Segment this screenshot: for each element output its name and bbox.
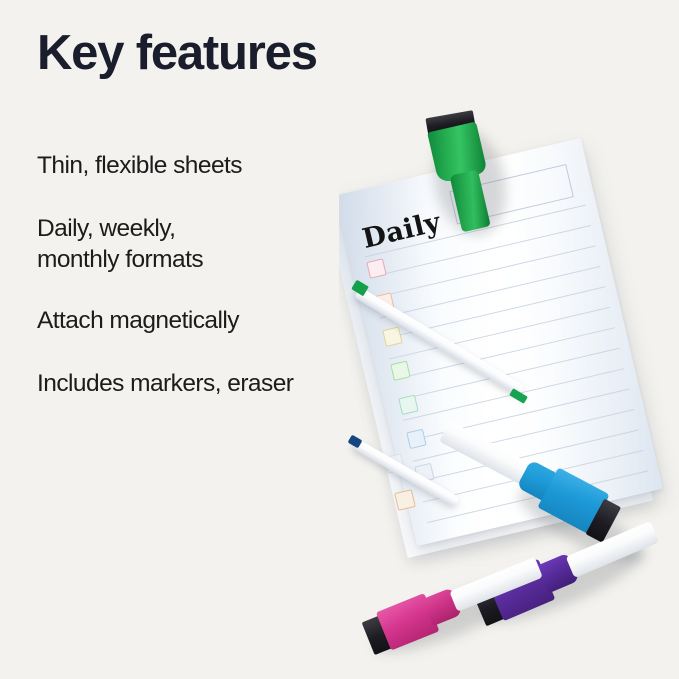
pink-marker <box>360 550 555 677</box>
feature-text-column: Key features Thin, flexible sheets Daily… <box>37 24 417 82</box>
feature-item-attach-magnetically: Attach magnetically <box>37 305 417 336</box>
feature-list: Thin, flexible sheets Daily, weekly, mon… <box>37 150 417 431</box>
pink-marker-barrel <box>449 557 543 612</box>
page-title: Key features <box>37 24 417 82</box>
feature-item-formats: Daily, weekly, monthly formats <box>37 213 417 275</box>
feature-item-thin-flexible-sheets: Thin, flexible sheets <box>37 150 417 181</box>
feature-item-includes-markers-eraser: Includes markers, eraser <box>37 368 417 399</box>
green-marker-neck <box>449 169 490 232</box>
product-feature-panel: Key features Thin, flexible sheets Daily… <box>0 0 679 679</box>
